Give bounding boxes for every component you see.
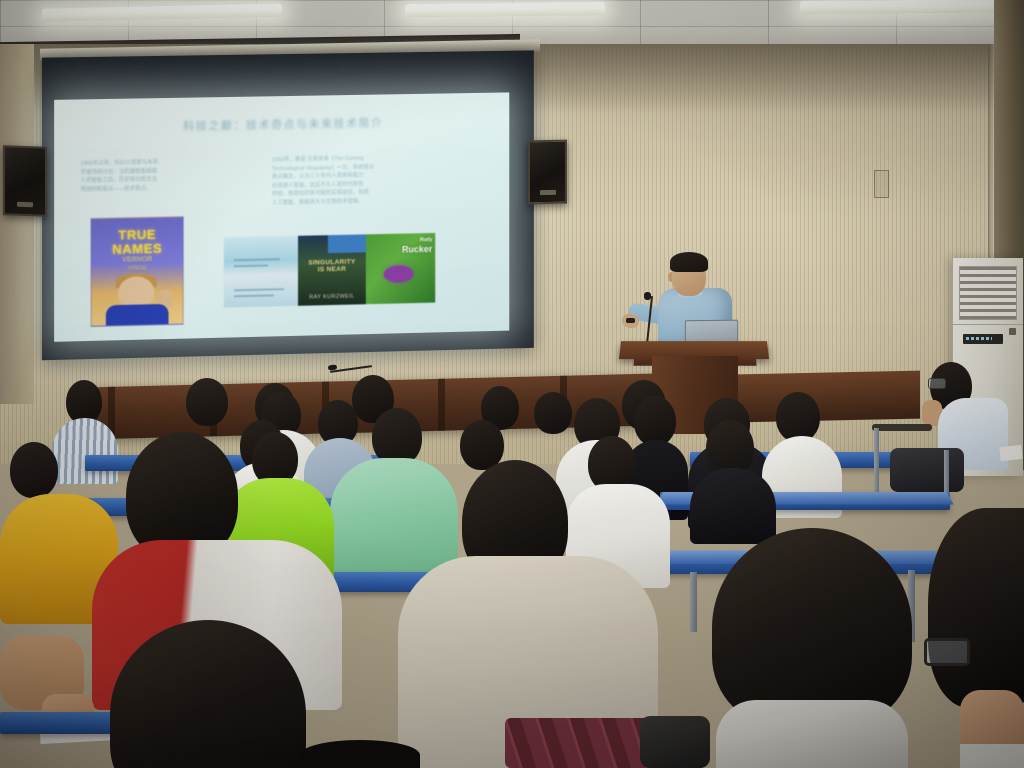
student-legs	[890, 448, 964, 492]
slide-left-column: 1966年以来，科幻小说家与未来 学者持续讨论：当机器智能超越 人类智能之后，历…	[81, 157, 257, 194]
desk-leg	[690, 572, 697, 632]
book-cover-pale-blue	[224, 236, 298, 308]
glasses-icon	[928, 378, 946, 389]
presenter-hair	[670, 252, 708, 272]
paper-on-desk	[999, 445, 1022, 461]
air-conditioner-control-icon	[1009, 328, 1016, 335]
air-conditioner-vents	[959, 266, 1017, 320]
speaker-badge	[17, 202, 33, 208]
wall-speaker-left	[3, 145, 47, 217]
slide-title: 科技之巅：技术奇点与未来技术简介	[54, 112, 509, 136]
backpack	[640, 716, 710, 768]
lecture-hall-photo: 科技之巅：技术奇点与未来技术简介 1966年以来，科幻小说家与未来 学者持续讨论…	[0, 0, 1024, 768]
book-figure-body	[106, 304, 169, 327]
presentation-clicker-icon	[626, 318, 635, 323]
foreground-shirt-edge	[960, 744, 1024, 768]
air-conditioner-display	[963, 334, 1003, 344]
book-cover-strip: SINGULARITY IS NEAR RAY KURZWEIL Rudy Ru…	[224, 233, 435, 308]
book-author-kurzweil: RAY KURZWEIL	[298, 293, 366, 301]
book-author-rucker: Rudy Rucker	[402, 236, 432, 255]
book-cover-rudy-rucker: Rudy Rucker	[366, 233, 435, 304]
wall-mark	[874, 170, 889, 198]
book-cover-singularity-is-near: SINGULARITY IS NEAR RAY KURZWEIL	[298, 234, 366, 305]
projected-slide: 科技之巅：技术奇点与未来技术简介 1966年以来，科幻小说家与未来 学者持续讨论…	[54, 92, 509, 341]
ceiling-light-3	[800, 0, 1015, 14]
person-foreground-partial-head	[300, 740, 420, 768]
book-author-line-2: VINGE	[92, 264, 183, 272]
chair-frame	[874, 428, 879, 494]
wall-column-left	[0, 44, 34, 404]
wall-speaker-right	[528, 140, 567, 205]
book-purple-form	[384, 265, 414, 283]
book-author-line-1: VERNOR	[92, 255, 183, 264]
book-sky-patch	[328, 234, 366, 253]
speaker-badge	[540, 190, 556, 195]
glasses-icon	[924, 638, 970, 666]
podium-microphone-icon	[644, 292, 651, 300]
book-cover-true-names: TRUE NAMES VERNOR VINGE	[91, 216, 184, 327]
ceiling-light-2	[405, 2, 605, 17]
slide-right-column: 1993年，弗诺·文奇发表《The Coming Technological S…	[272, 152, 493, 207]
book-title-singularity: SINGULARITY IS NEAR	[298, 258, 366, 273]
air-conditioner-seam	[953, 324, 1023, 325]
chair-armrest	[872, 424, 932, 431]
projection-screen: 科技之巅：技术奇点与未来技术简介 1966年以来，科幻小说家与未来 学者持续讨论…	[42, 50, 534, 360]
foreground-shoulder	[716, 700, 908, 768]
